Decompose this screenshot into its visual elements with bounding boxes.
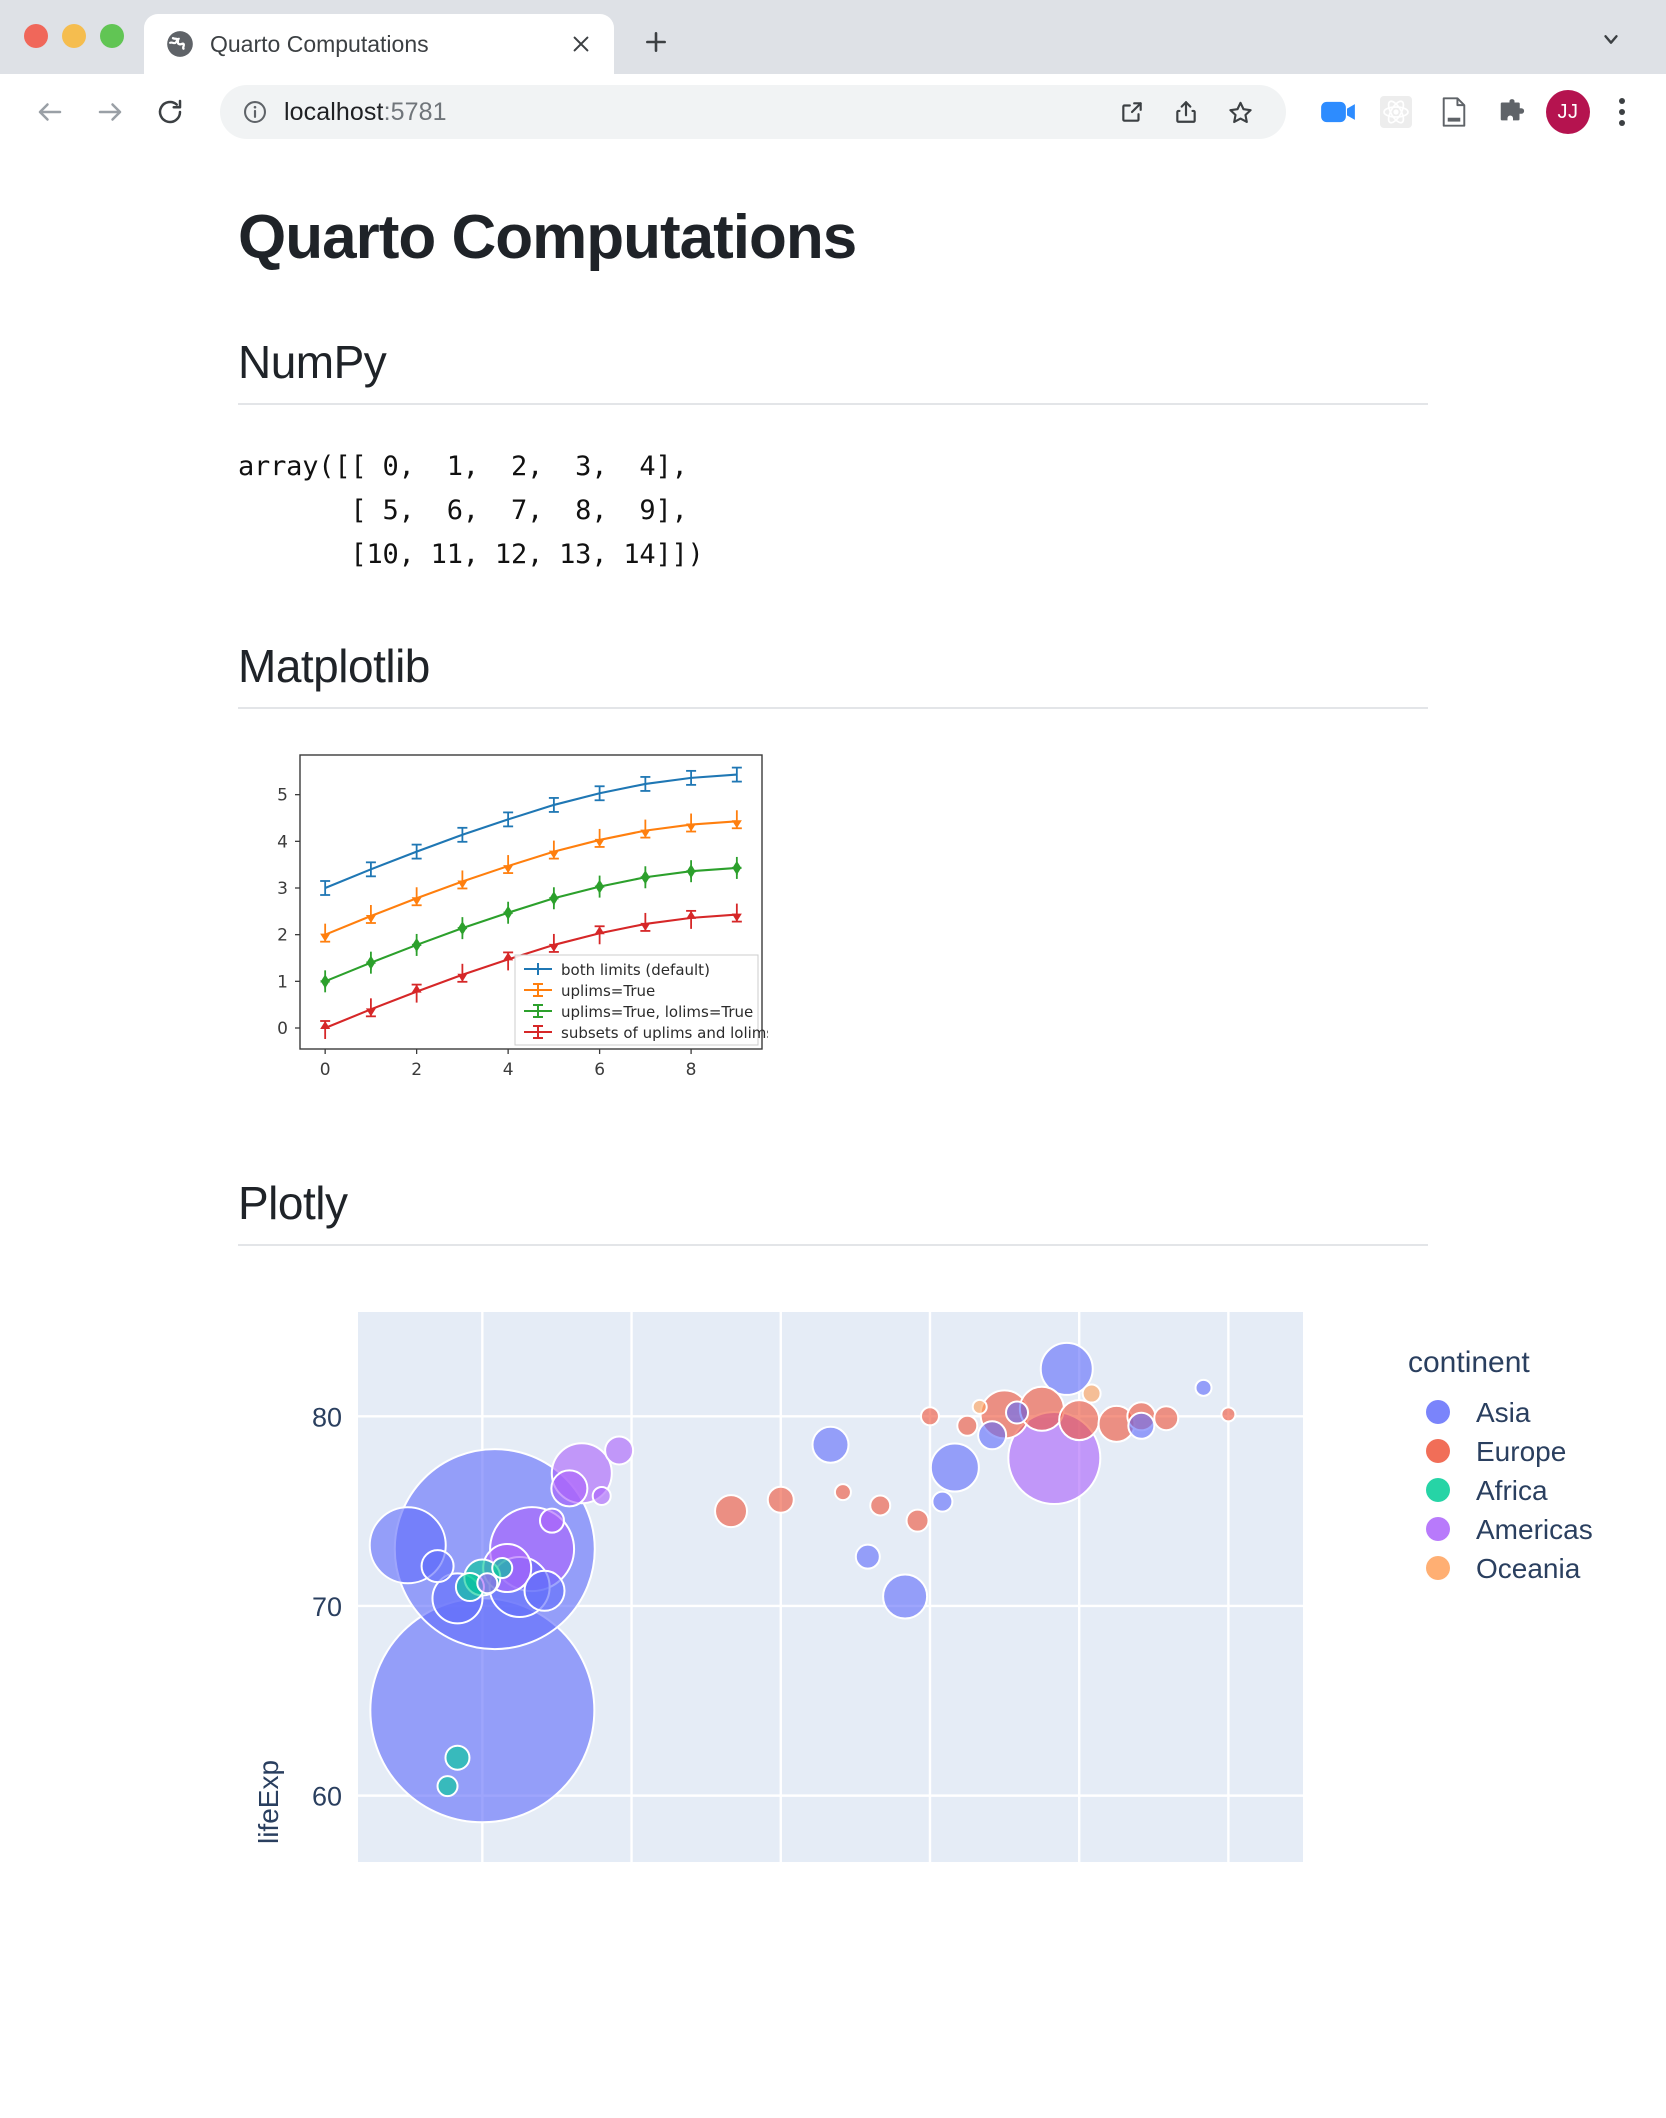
numpy-output: array([[ 0, 1, 2, 3, 4], [ 5, 6, 7, 8, 9… [238,445,1428,576]
legend-label: Africa [1476,1475,1548,1506]
browser-window: Quarto Computations [0,0,1666,2118]
legend-swatch [1426,1478,1450,1502]
legend-swatch [1426,1439,1450,1463]
info-circle-icon[interactable] [242,99,268,125]
legend-swatch [1426,1400,1450,1424]
svg-text:1: 1 [277,972,288,992]
share-icon[interactable] [1162,88,1210,136]
svg-text:60: 60 [312,1781,342,1811]
avatar[interactable]: JJ [1546,90,1590,134]
open-in-new-icon[interactable] [1108,88,1156,136]
document-icon[interactable] [1430,88,1478,136]
omnibox-actions [1108,88,1264,136]
reload-button[interactable] [142,84,198,140]
svg-text:5: 5 [277,785,288,805]
page-title: Quarto Computations [238,150,1428,273]
globe-icon [166,30,194,58]
legend-swatch [1426,1517,1450,1541]
legend-title: continent [1408,1346,1530,1379]
svg-text:3: 3 [277,879,288,899]
svg-text:subsets of uplims and lolims: subsets of uplims and lolims [561,1024,768,1042]
plotly-gapminder-bubble-chart[interactable]: 607080lifeExpcontinentAsiaEuropeAfricaAm… [238,1302,1658,1862]
three-dot-menu-icon[interactable] [1600,88,1644,136]
section-heading-matplotlib: Matplotlib [238,639,1428,709]
svg-text:uplims=True, lolims=True: uplims=True, lolims=True [561,1003,753,1021]
url-port: :5781 [384,98,447,126]
legend-label: Asia [1476,1397,1531,1428]
svg-text:4: 4 [503,1060,514,1080]
svg-text:2: 2 [411,1060,422,1080]
react-devtools-icon[interactable] [1372,88,1420,136]
window-controls [0,24,144,74]
svg-text:6: 6 [594,1060,605,1080]
chart-legend: both limits (default)uplims=Trueuplims=T… [515,955,768,1045]
section-heading-plotly: Plotly [238,1176,1428,1246]
reload-icon [155,97,185,127]
svg-text:uplims=True: uplims=True [561,982,655,1000]
tab-title: Quarto Computations [210,31,550,58]
svg-text:0: 0 [277,1019,288,1039]
forward-button[interactable] [82,84,138,140]
plotly-figure-container: 607080lifeExpcontinentAsiaEuropeAfricaAm… [238,1302,1428,1822]
chevron-down-icon [1600,28,1622,50]
tab-list-button[interactable] [1594,22,1628,56]
page-content: Quarto Computations NumPy array([[ 0, 1,… [0,150,1666,2118]
back-button[interactable] [22,84,78,140]
section-heading-numpy: NumPy [238,335,1428,405]
svg-text:8: 8 [686,1060,697,1080]
new-tab-button[interactable] [628,14,684,70]
url-host: localhost [284,98,384,126]
plus-icon [643,29,669,55]
legend-label: Americas [1476,1514,1593,1545]
back-arrow-icon [35,97,65,127]
svg-text:2: 2 [277,925,288,945]
y-axis-label: lifeExp [253,1759,284,1843]
minimize-window-button[interactable] [62,24,86,48]
svg-text:0: 0 [320,1060,331,1080]
url-text: localhost:5781 [284,98,447,127]
maximize-window-button[interactable] [100,24,124,48]
browser-toolbar: localhost:5781 [0,74,1666,150]
extensions-area: JJ [1304,88,1644,136]
close-icon[interactable] [566,29,596,59]
address-bar[interactable]: localhost:5781 [220,85,1286,139]
tab-strip: Quarto Computations [0,0,1666,74]
legend-label: Oceania [1476,1553,1581,1584]
forward-arrow-icon [95,97,125,127]
svg-text:both limits (default): both limits (default) [561,961,710,979]
legend-label: Europe [1476,1436,1566,1467]
matplotlib-errorbar-chart: 01234502468both limits (default)uplims=T… [238,749,768,1109]
svg-text:4: 4 [277,832,288,852]
svg-text:70: 70 [312,1591,342,1621]
zoom-icon[interactable] [1314,88,1362,136]
plotly-legend: continentAsiaEuropeAfricaAmericasOceania [1408,1346,1593,1584]
close-window-button[interactable] [24,24,48,48]
browser-tab[interactable]: Quarto Computations [144,14,614,74]
legend-swatch [1426,1556,1450,1580]
star-icon[interactable] [1216,88,1264,136]
puzzle-piece-icon[interactable] [1488,88,1536,136]
svg-text:80: 80 [312,1402,342,1432]
matplotlib-figure-container: 01234502468both limits (default)uplims=T… [238,749,1428,1114]
